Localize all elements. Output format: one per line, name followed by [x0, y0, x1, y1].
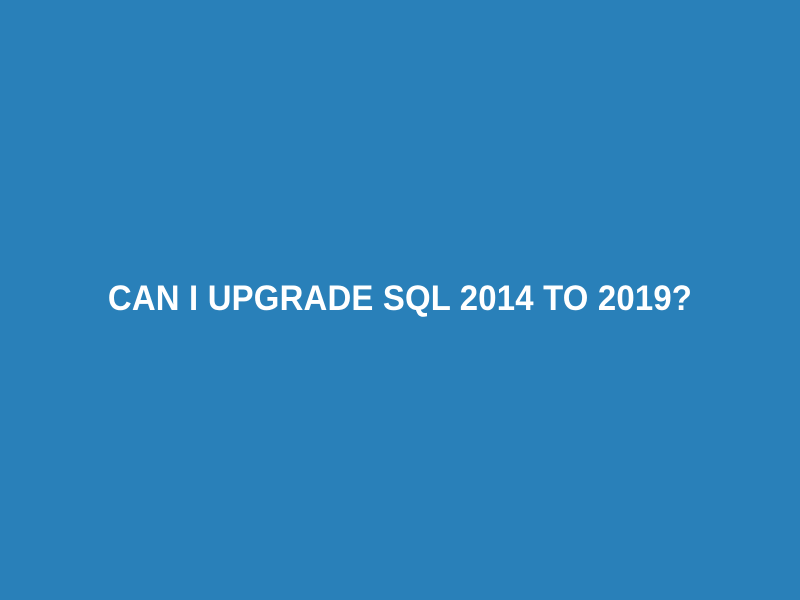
page-title: Can I Upgrade SQL 2014 to 2019?: [24, 279, 776, 319]
hero-banner: Can I Upgrade SQL 2014 to 2019?: [0, 0, 800, 600]
